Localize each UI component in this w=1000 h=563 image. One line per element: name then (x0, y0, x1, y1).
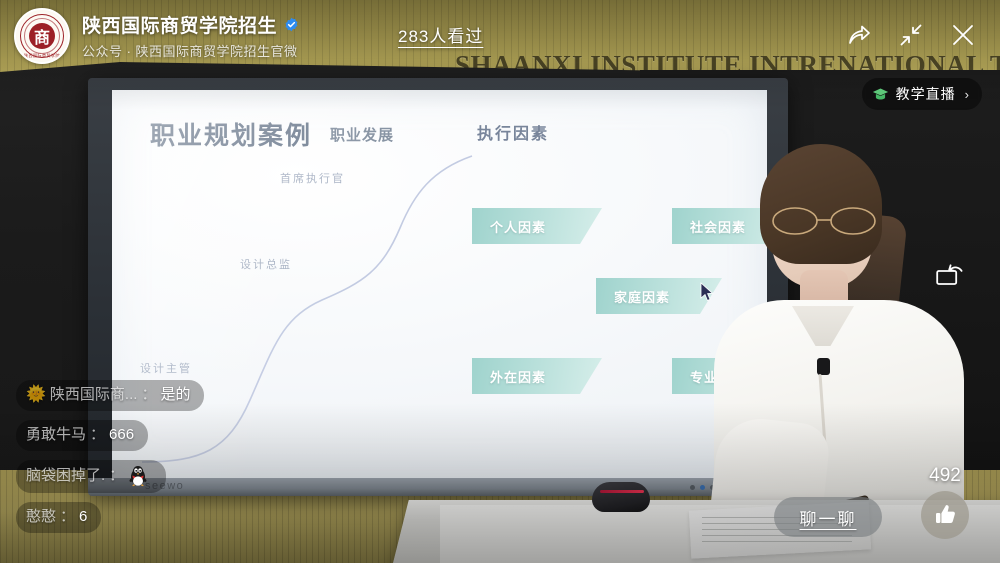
ribbon-tail (596, 314, 614, 325)
avatar[interactable]: 商 陕西国际商贸学院 (14, 8, 70, 64)
chat-message: 脑袋困掉了. ： (16, 460, 166, 493)
chat-message: 勇敢牛马 ： 666 (16, 420, 148, 451)
mouse-led-strip (600, 490, 644, 493)
chat-message: 🌞 陕西国际商... ： 是的 (16, 380, 204, 411)
chat-user-name: 憨憨 (26, 507, 56, 527)
chat-separator: ： (60, 507, 75, 527)
live-badge-label: 教学直播 (896, 84, 956, 104)
chat-separator: ： (90, 425, 105, 445)
slide-title: 职业规划案例 (150, 116, 312, 152)
chevron-right-icon: › (965, 87, 970, 102)
curve-label-design-director: 设计总监 (240, 256, 292, 272)
ribbon-personal-factors: 个人因素 (472, 208, 602, 244)
thumbs-up-icon (932, 502, 958, 528)
ribbon-tail (672, 244, 690, 255)
account-subtitle: 公众号 · 陕西国际商贸学院招生官微 (82, 41, 299, 60)
channel-header[interactable]: 商 陕西国际商贸学院 陕西国际商贸学院招生 公众号 · 陕西国际商贸学院招生官微 (14, 8, 299, 64)
verified-badge-icon (284, 17, 299, 32)
like-section: 492 (914, 465, 976, 539)
lapel-microphone (817, 358, 830, 375)
live-class-badge[interactable]: 教学直播 › (862, 78, 982, 110)
curve-label-design-supervisor: 设计主管 (140, 360, 192, 376)
ribbon-label: 外在因素 (490, 367, 546, 386)
shrink-icon[interactable] (898, 22, 924, 48)
presentation-slide: 职业规划案例 职业发展 执行因素 首席执行官 设计总监 设计主管 个人因素 社会… (112, 90, 767, 478)
ribbon-external-factors: 外在因素 (472, 358, 602, 394)
chat-user-name: 勇敢牛马 (26, 425, 86, 445)
ribbon-tail (672, 394, 690, 405)
ribbon-label: 个人因素 (490, 217, 546, 236)
computer-mouse (592, 482, 650, 512)
viewer-count[interactable]: 283人看过 (398, 22, 483, 47)
chat-text: 6 (79, 507, 87, 527)
chat-message-list[interactable]: 🌞 陕西国际商... ： 是的 勇敢牛马 ： 666 脑袋困掉了. ： (16, 380, 204, 533)
account-name: 陕西国际商贸学院招生 (82, 11, 277, 38)
ribbon-label: 家庭因素 (614, 287, 670, 306)
qq-penguin-emoji (128, 465, 148, 487)
chat-message: 憨憨 ： 6 (16, 502, 101, 533)
chat-separator: ： (109, 466, 124, 486)
screen-rotate-icon[interactable] (936, 262, 966, 288)
graduation-cap-icon (872, 86, 889, 103)
slide-subtitle: 职业发展 (330, 124, 394, 145)
account-title-row: 陕西国际商贸学院招生 (82, 11, 299, 38)
share-icon[interactable] (846, 22, 872, 48)
slide-heading-execution-factors: 执行因素 (477, 120, 549, 144)
like-count: 492 (914, 465, 976, 487)
avatar-seal-character: 商 (29, 23, 55, 49)
avatar-arc-text: 陕西国际商贸学院 (16, 53, 68, 59)
chat-separator: ： (141, 385, 156, 405)
curve-label-ceo: 首席执行官 (280, 170, 345, 186)
chat-text: 666 (109, 425, 134, 445)
chat-user-name: 脑袋困掉了. (26, 466, 105, 486)
close-icon[interactable] (950, 22, 976, 48)
open-chat-button[interactable]: 聊一聊 (774, 497, 882, 537)
sun-emoji: 🌞 (26, 387, 46, 403)
top-right-controls (846, 22, 976, 48)
live-stream-player: SHAANXI INSTITUTE INTRENATIONAL TRADE se… (0, 0, 1000, 563)
chat-text: 是的 (160, 385, 190, 405)
glasses-icon (768, 206, 880, 236)
like-button[interactable] (921, 491, 969, 539)
chat-user-name: 陕西国际商... (50, 385, 138, 405)
